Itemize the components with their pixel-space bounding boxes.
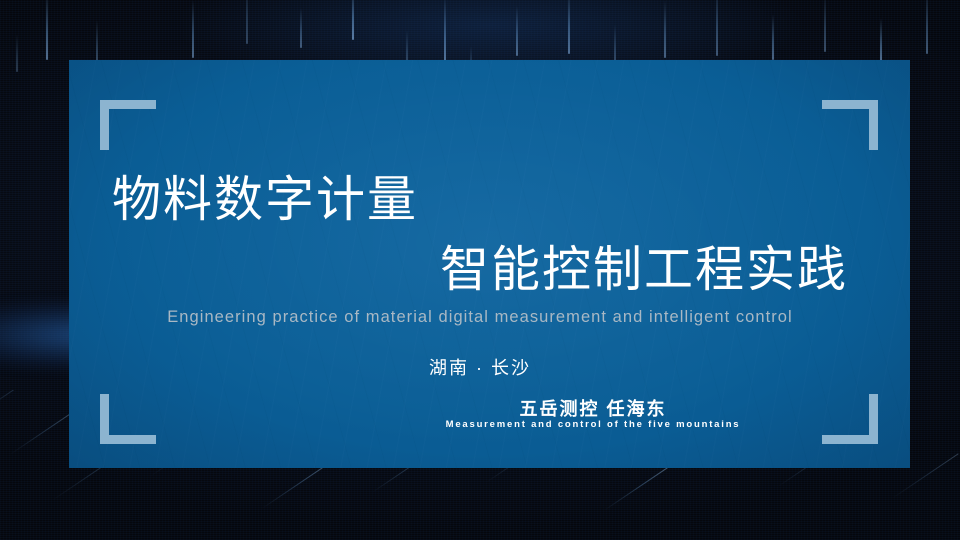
slide-title-line-2: 智能控制工程实践 [440, 246, 848, 295]
slide-subtitle-english: Engineering practice of material digital… [0, 308, 960, 327]
slide-location: 湖南 · 长沙 [0, 354, 960, 380]
slide-title-line-1: 物料数字计量 [112, 176, 418, 225]
corner-bracket-top-right [822, 100, 878, 150]
presenter-name-english: Measurement and control of the five moun… [433, 418, 753, 432]
corner-bracket-top-left [100, 100, 156, 150]
title-slide: 物料数字计量 智能控制工程实践 Engineering practice of … [0, 0, 960, 540]
